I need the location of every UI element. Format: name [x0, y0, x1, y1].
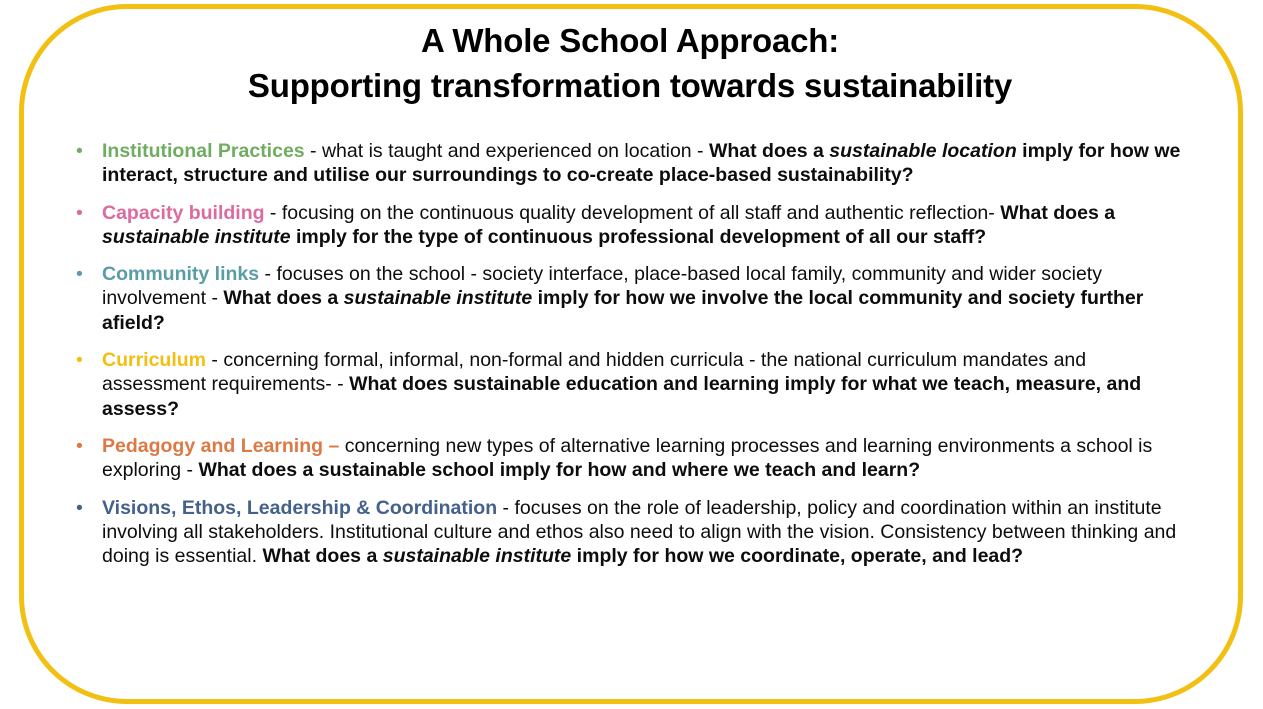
list-item: • Pedagogy and Learning – concerning new…: [64, 434, 1184, 483]
list-item-bold-1: What does a: [1000, 202, 1115, 224]
list-item-bold-1: What does a: [709, 140, 829, 162]
list-item-bold-1: What does a: [262, 545, 382, 567]
list-item-text: Capacity building - focusing on the cont…: [102, 201, 1184, 250]
list-item-lead: Pedagogy and Learning –: [102, 435, 339, 457]
list-item-bold-2: imply for the type of continuous profess…: [291, 226, 987, 248]
bullet-list: • Institutional Practices - what is taug…: [64, 139, 1184, 568]
list-item-bold-1: What does a: [223, 287, 343, 309]
list-item: • Community links - focuses on the schoo…: [64, 262, 1184, 335]
list-item-bold-1: What does a sustainable school imply for…: [198, 459, 920, 481]
list-item-lead: Capacity building: [102, 202, 265, 224]
list-item: • Institutional Practices - what is taug…: [64, 139, 1184, 188]
list-item-bold-italic: sustainable institute: [344, 287, 533, 309]
list-item-text: Visions, Ethos, Leadership & Coordinatio…: [102, 496, 1184, 569]
title-line-2: Supporting transformation towards sustai…: [60, 63, 1200, 108]
list-item-body: - focusing on the continuous quality dev…: [265, 202, 1001, 224]
list-item: • Visions, Ethos, Leadership & Coordinat…: [64, 496, 1184, 569]
list-item-text: Community links - focuses on the school …: [102, 262, 1184, 335]
list-item-text: Institutional Practices - what is taught…: [102, 139, 1184, 188]
list-item-lead: Visions, Ethos, Leadership & Coordinatio…: [102, 497, 497, 519]
bullet-marker-icon: •: [76, 262, 83, 286]
page-title: A Whole School Approach: Supporting tran…: [60, 18, 1200, 108]
bullet-marker-icon: •: [76, 348, 83, 372]
list-item-bold-2: imply for how we coordinate, operate, an…: [571, 545, 1023, 567]
bullet-marker-icon: •: [76, 201, 83, 225]
list-item-bold-italic: sustainable institute: [383, 545, 572, 567]
title-line-1: A Whole School Approach:: [60, 18, 1200, 63]
bullet-marker-icon: •: [76, 434, 83, 458]
list-item-lead: Institutional Practices: [102, 140, 305, 162]
slide-canvas: A Whole School Approach: Supporting tran…: [0, 0, 1263, 709]
list-item: • Capacity building - focusing on the co…: [64, 201, 1184, 250]
list-item-text: Pedagogy and Learning – concerning new t…: [102, 434, 1184, 483]
list-item: • Curriculum - concerning formal, inform…: [64, 348, 1184, 421]
list-item-bold-italic: sustainable institute: [102, 226, 291, 248]
bullet-marker-icon: •: [76, 139, 83, 163]
list-item-text: Curriculum - concerning formal, informal…: [102, 348, 1184, 421]
list-item-body: - what is taught and experienced on loca…: [305, 140, 709, 162]
bullet-marker-icon: •: [76, 496, 83, 520]
list-item-lead: Community links: [102, 263, 259, 285]
list-item-lead: Curriculum: [102, 349, 206, 371]
list-item-bold-italic: sustainable location: [829, 140, 1016, 162]
